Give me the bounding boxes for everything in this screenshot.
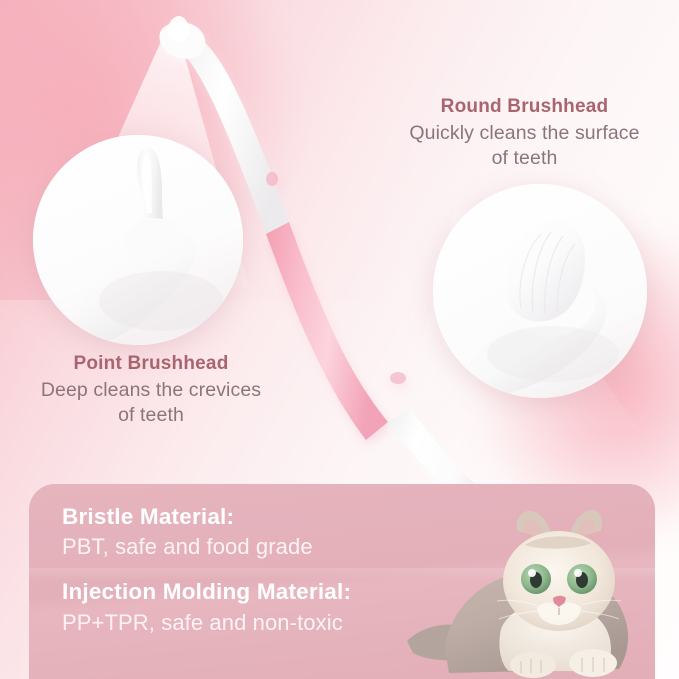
- callout-desc-point-line1: Deep cleans the crevices: [6, 378, 296, 403]
- product-infographic: Round Brushhead Quickly cleans the surfa…: [0, 0, 679, 679]
- callout-desc-round-line2: of teeth: [382, 146, 667, 171]
- callout-title-point: Point Brushhead: [6, 352, 296, 376]
- callout-desc-point-line2: of teeth: [6, 403, 296, 428]
- cat-photo: [405, 501, 655, 679]
- materials-banner: Bristle Material: PBT, safe and food gra…: [29, 484, 655, 679]
- callout-point-brushhead: Point Brushhead Deep cleans the crevices…: [6, 352, 296, 428]
- round-brushhead-closeup: [433, 184, 647, 398]
- callout-desc-round-line1: Quickly cleans the surface: [382, 121, 667, 146]
- lens-round-brushhead: [433, 184, 647, 398]
- callout-title-round: Round Brushhead: [382, 95, 667, 119]
- point-brushhead-closeup: [33, 135, 243, 345]
- lens-point-brushhead: [33, 135, 243, 345]
- callout-round-brushhead: Round Brushhead Quickly cleans the surfa…: [382, 95, 667, 171]
